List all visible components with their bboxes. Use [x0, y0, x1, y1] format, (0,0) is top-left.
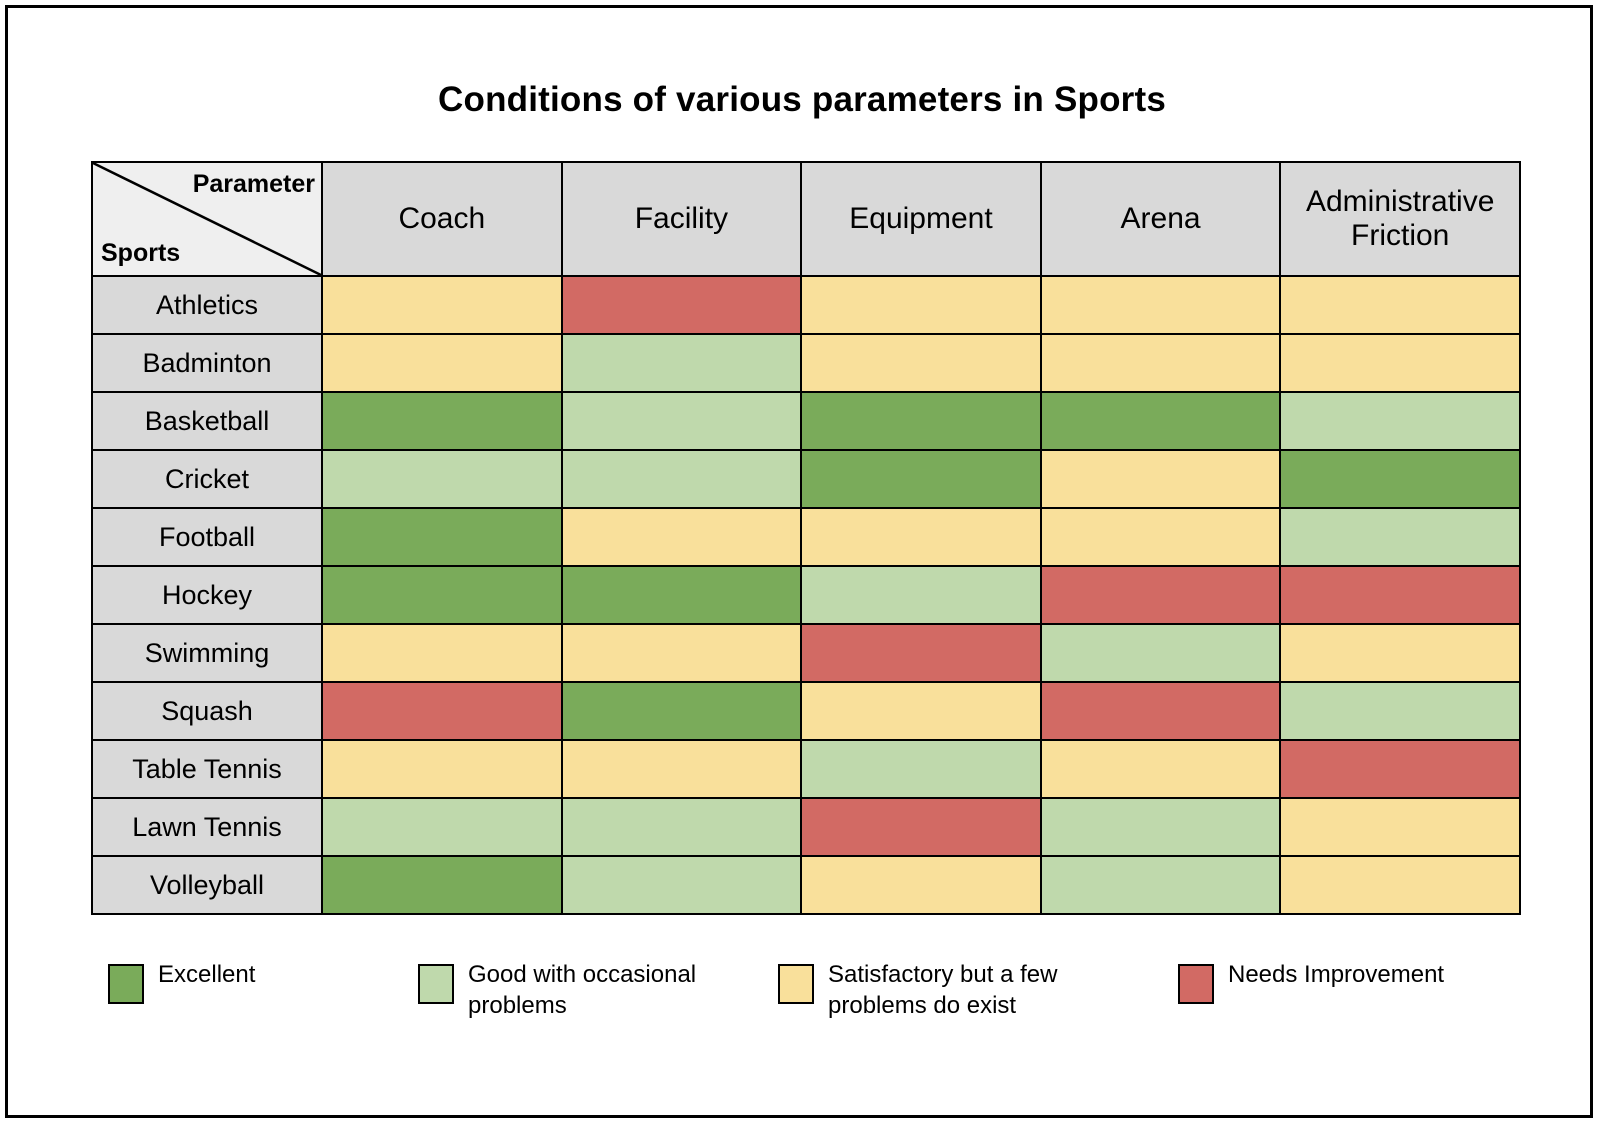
page-frame: Conditions of various parameters in Spor…: [5, 5, 1593, 1118]
table-row: Squash: [92, 682, 1520, 740]
matrix-cell: [562, 798, 802, 856]
legend-item-satisfactory: Satisfactory but a few problems do exist: [778, 960, 1178, 1021]
matrix-cell: [1280, 682, 1520, 740]
legend-swatch-needs-improvement: [1178, 964, 1214, 1004]
matrix-cell: [562, 508, 802, 566]
matrix-cell: [1280, 740, 1520, 798]
matrix-cell: [562, 334, 802, 392]
matrix-cell: [801, 624, 1041, 682]
row-header-lawn-tennis: Lawn Tennis: [92, 798, 322, 856]
matrix-cell: [1280, 392, 1520, 450]
table-row: Football: [92, 508, 1520, 566]
matrix-cell: [322, 276, 562, 334]
matrix-cell: [322, 856, 562, 914]
matrix-cell: [801, 334, 1041, 392]
matrix-cell: [801, 740, 1041, 798]
matrix-cell: [801, 392, 1041, 450]
matrix-cell: [322, 566, 562, 624]
matrix-cell: [1041, 682, 1281, 740]
corner-parameter-label: Parameter: [193, 171, 315, 199]
matrix-cell: [1041, 740, 1281, 798]
row-header-hockey: Hockey: [92, 566, 322, 624]
matrix-cell: [1280, 856, 1520, 914]
table-row: Table Tennis: [92, 740, 1520, 798]
row-header-cricket: Cricket: [92, 450, 322, 508]
matrix-cell: [562, 740, 802, 798]
conditions-matrix-table: Parameter Sports Coach Facility Equipmen…: [91, 161, 1521, 915]
legend-label: Needs Improvement: [1228, 960, 1444, 991]
table-header-row: Parameter Sports Coach Facility Equipmen…: [92, 162, 1520, 276]
corner-sports-label: Sports: [101, 240, 180, 268]
matrix-cell: [1280, 450, 1520, 508]
matrix-cell: [322, 508, 562, 566]
matrix-cell: [1041, 856, 1281, 914]
column-header-administrative-friction: Administrative Friction: [1280, 162, 1520, 276]
legend-swatch-excellent: [108, 964, 144, 1004]
matrix-cell: [1280, 334, 1520, 392]
table-row: Athletics: [92, 276, 1520, 334]
matrix-cell: [801, 856, 1041, 914]
matrix-cell: [801, 450, 1041, 508]
matrix-cell: [562, 682, 802, 740]
matrix-cell: [562, 856, 802, 914]
matrix-cell: [1041, 334, 1281, 392]
row-header-swimming: Swimming: [92, 624, 322, 682]
matrix-cell: [1280, 276, 1520, 334]
matrix-cell: [1041, 566, 1281, 624]
row-header-table-tennis: Table Tennis: [92, 740, 322, 798]
row-header-volleyball: Volleyball: [92, 856, 322, 914]
matrix-cell: [562, 392, 802, 450]
matrix-cell: [322, 798, 562, 856]
legend-item-excellent: Excellent: [108, 960, 418, 1004]
matrix-cell: [801, 682, 1041, 740]
matrix-cell: [1041, 798, 1281, 856]
column-header-equipment: Equipment: [801, 162, 1041, 276]
matrix-cell: [1041, 450, 1281, 508]
legend-label: Excellent: [158, 960, 255, 991]
matrix-cell: [1280, 566, 1520, 624]
table-row: Swimming: [92, 624, 1520, 682]
legend-swatch-good: [418, 964, 454, 1004]
matrix-cell: [1041, 276, 1281, 334]
matrix-cell: [801, 566, 1041, 624]
row-header-badminton: Badminton: [92, 334, 322, 392]
legend: ExcellentGood with occasional problemsSa…: [108, 960, 1528, 1021]
matrix-cell: [801, 798, 1041, 856]
matrix-cell: [1041, 508, 1281, 566]
matrix-cell: [322, 334, 562, 392]
page-title: Conditions of various parameters in Spor…: [8, 80, 1596, 120]
legend-swatch-satisfactory: [778, 964, 814, 1004]
column-header-coach: Coach: [322, 162, 562, 276]
legend-label: Satisfactory but a few problems do exist: [828, 960, 1098, 1021]
legend-item-good: Good with occasional problems: [418, 960, 778, 1021]
matrix-cell: [1280, 798, 1520, 856]
matrix-body: AthleticsBadmintonBasketballCricketFootb…: [92, 276, 1520, 914]
legend-item-needs-improvement: Needs Improvement: [1178, 960, 1508, 1004]
legend-label: Good with occasional problems: [468, 960, 738, 1021]
matrix-cell: [562, 450, 802, 508]
row-header-athletics: Athletics: [92, 276, 322, 334]
table-row: Volleyball: [92, 856, 1520, 914]
matrix-cell: [1280, 508, 1520, 566]
table-row: Cricket: [92, 450, 1520, 508]
matrix-cell: [801, 276, 1041, 334]
matrix-cell: [322, 450, 562, 508]
table-row: Lawn Tennis: [92, 798, 1520, 856]
row-header-basketball: Basketball: [92, 392, 322, 450]
matrix-cell: [1041, 392, 1281, 450]
matrix-cell: [562, 624, 802, 682]
matrix-cell: [322, 392, 562, 450]
matrix-cell: [322, 624, 562, 682]
matrix-cell: [322, 682, 562, 740]
table-row: Basketball: [92, 392, 1520, 450]
row-header-football: Football: [92, 508, 322, 566]
matrix-cell: [1280, 624, 1520, 682]
matrix-cell: [322, 740, 562, 798]
corner-header-cell: Parameter Sports: [92, 162, 322, 276]
table-row: Badminton: [92, 334, 1520, 392]
table-row: Hockey: [92, 566, 1520, 624]
matrix-cell: [801, 508, 1041, 566]
column-header-facility: Facility: [562, 162, 802, 276]
column-header-arena: Arena: [1041, 162, 1281, 276]
matrix-cell: [562, 276, 802, 334]
matrix-cell: [562, 566, 802, 624]
row-header-squash: Squash: [92, 682, 322, 740]
matrix-cell: [1041, 624, 1281, 682]
